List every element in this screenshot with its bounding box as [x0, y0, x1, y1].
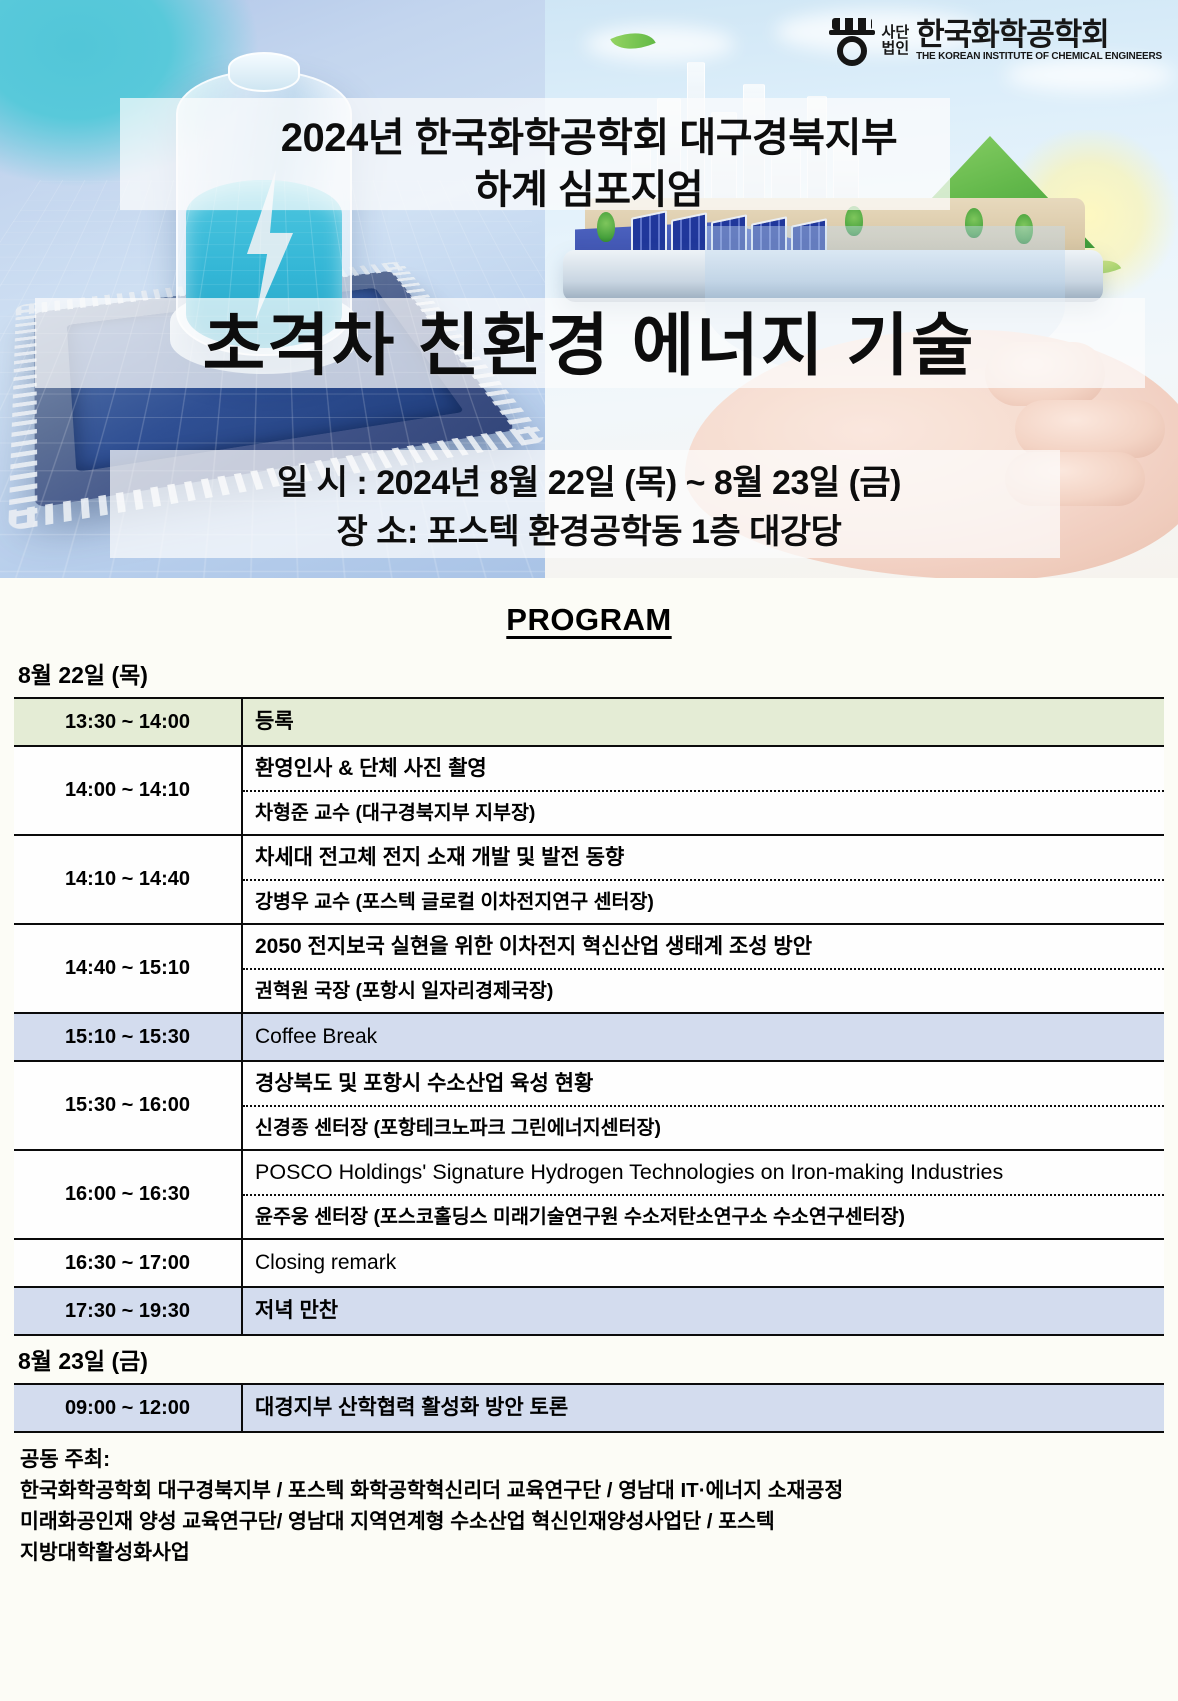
schedule-speaker: 차형준 교수 (대구경북지부 지부장)	[243, 790, 1164, 834]
schedule-session-title: Closing remark	[243, 1240, 1164, 1286]
schedule-row: 15:30 ~ 16:00경상북도 및 포항시 수소산업 육성 현황신경종 센터…	[14, 1061, 1164, 1150]
schedule-row: 14:40 ~ 15:102050 전지보국 실현을 위한 이차전지 혁신산업 …	[14, 924, 1164, 1013]
program-heading: PROGRAM	[14, 592, 1164, 650]
schedule-content: 2050 전지보국 실현을 위한 이차전지 혁신산업 생태계 조성 방안권혁원 …	[242, 924, 1164, 1013]
logo-text-block: 한국화학공학회 THE KOREAN INSTITUTE OF CHEMICAL…	[916, 19, 1162, 63]
schedule-row: 16:30 ~ 17:00Closing remark	[14, 1239, 1164, 1287]
schedule-time: 14:10 ~ 14:40	[14, 835, 242, 924]
logo-corporation-label: 사단 법인	[882, 25, 910, 57]
organizers-line3: 지방대학활성화사업	[20, 1537, 1158, 1568]
logo-sadan-line1: 사단	[882, 25, 910, 41]
schedule-time: 13:30 ~ 14:00	[14, 698, 242, 746]
schedule-speaker: 윤주웅 센터장 (포스코홀딩스 미래기술연구원 수소저탄소연구소 수소연구센터장…	[243, 1194, 1164, 1238]
poster-location: 장 소: 포스텍 환경공학동 1층 대강당	[0, 508, 1178, 557]
schedule-row: 13:30 ~ 14:00등록	[14, 698, 1164, 746]
organizers-line1: 한국화학공학회 대구경북지부 / 포스텍 화학공학혁신리더 교육연구단 / 영남…	[20, 1475, 1158, 1506]
poster-datetime: 일 시 : 2024년 8월 22일 (목) ~ 8월 23일 (금)	[0, 459, 1178, 508]
schedule-time: 15:10 ~ 15:30	[14, 1013, 242, 1061]
tree-icon	[597, 212, 615, 242]
schedule-session-title: 등록	[243, 699, 1164, 745]
schedule-topic: 2050 전지보국 실현을 위한 이차전지 혁신산업 생태계 조성 방안	[243, 925, 1164, 968]
schedule-speaker: 권혁원 국장 (포항시 일자리경제국장)	[243, 968, 1164, 1012]
schedule-time: 14:00 ~ 14:10	[14, 746, 242, 835]
organizers-title: 공동 주최:	[20, 1445, 1158, 1475]
battery-cap	[228, 52, 300, 92]
schedule-content: 경상북도 및 포항시 수소산업 육성 현황신경종 센터장 (포항테크노파크 그린…	[242, 1061, 1164, 1150]
day2-schedule-table: 09:00 ~ 12:00대경지부 산학협력 활성화 방안 토론	[14, 1383, 1164, 1433]
schedule-time: 17:30 ~ 19:30	[14, 1287, 242, 1335]
logo-sadan-line2: 법인	[882, 41, 910, 57]
schedule-content: Coffee Break	[242, 1013, 1164, 1061]
day1-label: 8월 22일 (목)	[14, 650, 1164, 697]
schedule-topic: 경상북도 및 포항시 수소산업 육성 현황	[243, 1062, 1164, 1105]
schedule-time: 09:00 ~ 12:00	[14, 1384, 242, 1432]
organizers-footer: 공동 주최: 한국화학공학회 대구경북지부 / 포스텍 화학공학혁신리더 교육연…	[14, 1433, 1164, 1576]
schedule-session-title: 저녁 만찬	[243, 1288, 1164, 1334]
schedule-content: 차세대 전고체 전지 소재 개발 및 발전 동향강병우 교수 (포스텍 글로컬 …	[242, 835, 1164, 924]
cloud-shape	[585, 26, 735, 62]
schedule-time: 16:30 ~ 17:00	[14, 1239, 242, 1287]
kiche-logo: 사단 법인 한국화학공학회 THE KOREAN INSTITUTE OF CH…	[829, 16, 1162, 66]
poster-title: 2024년 한국화학공학회 대구경북지부 하계 심포지엄	[0, 112, 1178, 216]
schedule-row: 14:00 ~ 14:10환영인사 & 단체 사진 촬영차형준 교수 (대구경북…	[14, 746, 1164, 835]
schedule-content: Closing remark	[242, 1239, 1164, 1287]
schedule-content: 저녁 만찬	[242, 1287, 1164, 1335]
schedule-time: 15:30 ~ 16:00	[14, 1061, 242, 1150]
schedule-time: 16:00 ~ 16:30	[14, 1150, 242, 1239]
kiche-logo-mark-icon	[829, 16, 875, 66]
schedule-row: 14:10 ~ 14:40차세대 전고체 전지 소재 개발 및 발전 동향강병우…	[14, 835, 1164, 924]
schedule-row: 09:00 ~ 12:00대경지부 산학협력 활성화 방안 토론	[14, 1384, 1164, 1432]
schedule-content: 대경지부 산학협력 활성화 방안 토론	[242, 1384, 1164, 1432]
poster-title-line2: 하계 심포지엄	[0, 164, 1178, 216]
schedule-row: 15:10 ~ 15:30Coffee Break	[14, 1013, 1164, 1061]
schedule-content: 등록	[242, 698, 1164, 746]
logo-name-ko: 한국화학공학회	[916, 19, 1162, 51]
schedule-time: 14:40 ~ 15:10	[14, 924, 242, 1013]
symposium-poster: 사단 법인 한국화학공학회 THE KOREAN INSTITUTE OF CH…	[0, 0, 1178, 1701]
schedule-content: POSCO Holdings' Signature Hydrogen Techn…	[242, 1150, 1164, 1239]
schedule-session-title: 대경지부 산학협력 활성화 방안 토론	[243, 1385, 1164, 1431]
program-section: PROGRAM 8월 22일 (목) 13:30 ~ 14:00등록14:00 …	[0, 578, 1178, 1576]
poster-title-line1: 2024년 한국화학공학회 대구경북지부	[0, 112, 1178, 164]
hero-banner: 사단 법인 한국화학공학회 THE KOREAN INSTITUTE OF CH…	[0, 0, 1178, 578]
day1-schedule-table: 13:30 ~ 14:00등록14:00 ~ 14:10환영인사 & 단체 사진…	[14, 697, 1164, 1336]
poster-info: 일 시 : 2024년 8월 22일 (목) ~ 8월 23일 (금) 장 소:…	[0, 459, 1178, 557]
logo-name-en: THE KOREAN INSTITUTE OF CHEMICAL ENGINEE…	[916, 51, 1162, 63]
day2-label: 8월 23일 (금)	[14, 1336, 1164, 1383]
schedule-row: 17:30 ~ 19:30저녁 만찬	[14, 1287, 1164, 1335]
schedule-row: 16:00 ~ 16:30POSCO Holdings' Signature H…	[14, 1150, 1164, 1239]
schedule-topic: 차세대 전고체 전지 소재 개발 및 발전 동향	[243, 836, 1164, 879]
schedule-speaker: 강병우 교수 (포스텍 글로컬 이차전지연구 센터장)	[243, 879, 1164, 923]
schedule-topic: 환영인사 & 단체 사진 촬영	[243, 747, 1164, 790]
schedule-speaker: 신경종 센터장 (포항테크노파크 그린에너지센터장)	[243, 1105, 1164, 1149]
schedule-content: 환영인사 & 단체 사진 촬영차형준 교수 (대구경북지부 지부장)	[242, 746, 1164, 835]
schedule-session-title: Coffee Break	[243, 1014, 1164, 1060]
poster-subject: 초격차 친환경 에너지 기술	[0, 303, 1178, 389]
organizers-line2: 미래화공인재 양성 교육연구단/ 영남대 지역연계형 수소산업 혁신인재양성사업…	[20, 1506, 1158, 1537]
schedule-topic: POSCO Holdings' Signature Hydrogen Techn…	[243, 1151, 1164, 1194]
